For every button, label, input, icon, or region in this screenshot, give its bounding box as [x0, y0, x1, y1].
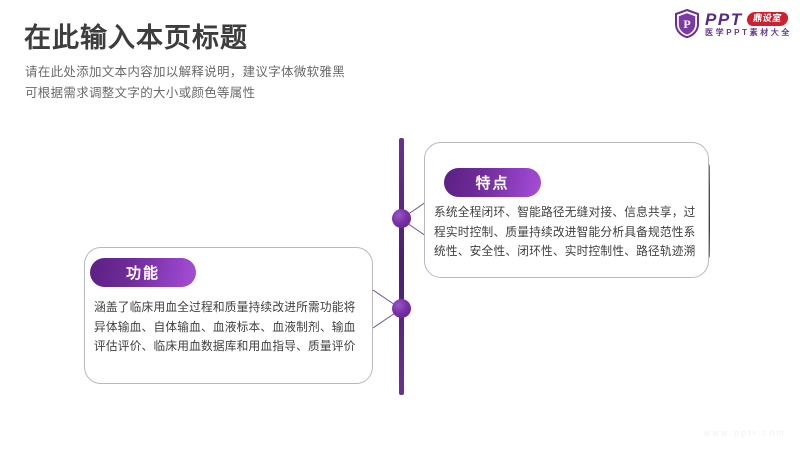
process-diagram: 特点 系统全程闭环、智能路径无缝对接、信息共享，过程实时控制、质量持续改进智能分… — [0, 0, 800, 450]
diagram-node-top — [392, 209, 411, 228]
site-watermark: www.pptr.com — [704, 428, 786, 438]
card-function-body: 涵盖了临床用血全过程和质量持续改进所需功能将异体输血、自体输血、血液标本、血液制… — [94, 298, 366, 357]
card-function-pill: 功能 — [90, 258, 196, 287]
diagram-spine-line — [399, 138, 404, 395]
card-feature-body: 系统全程闭环、智能路径无缝对接、信息共享，过程实时控制、质量持续改进智能分析具备… — [434, 203, 702, 262]
diagram-node-bottom — [392, 299, 411, 318]
card-feature-pill: 特点 — [444, 168, 541, 197]
